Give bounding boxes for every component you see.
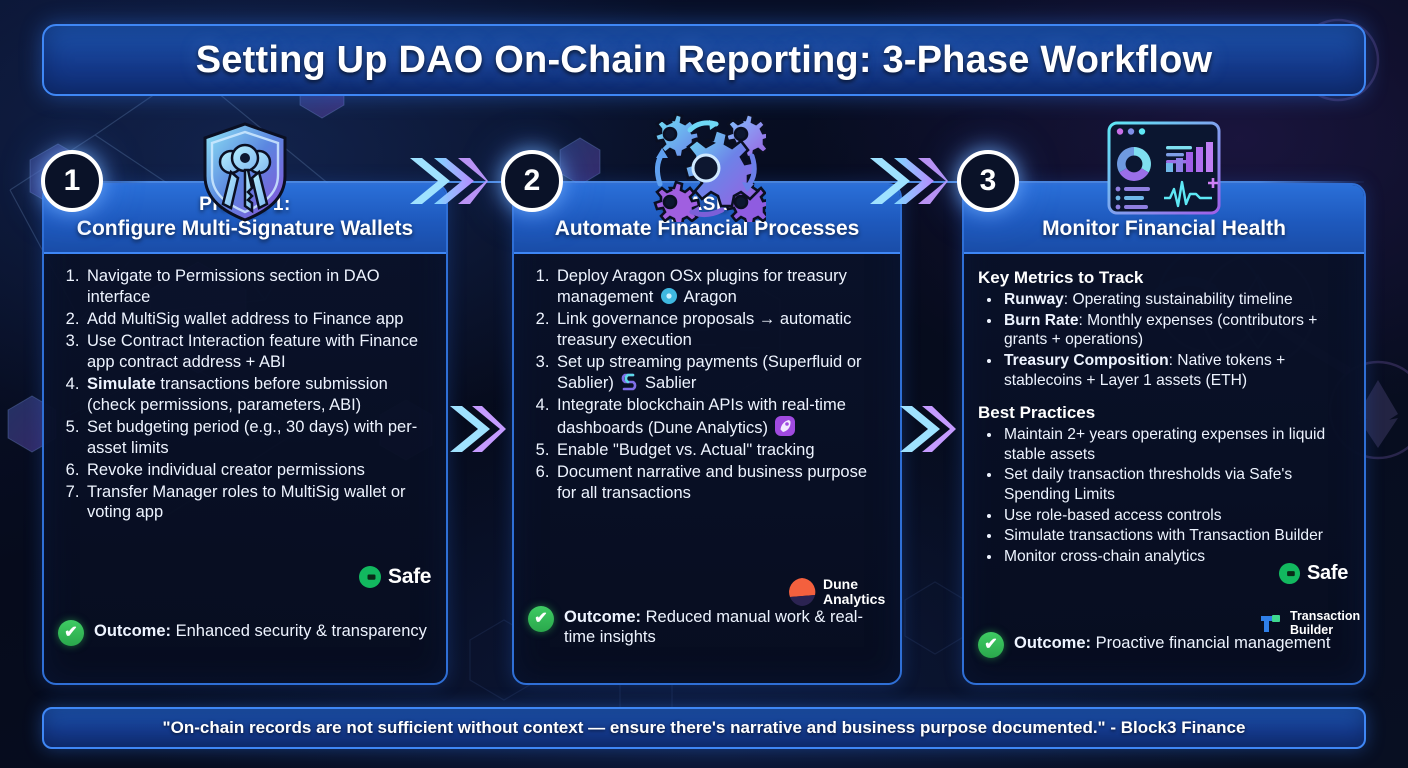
step-text: Transfer Manager roles to MultiSig walle… <box>87 483 406 522</box>
metric-desc: : Operating sustainability timeline <box>1064 291 1293 308</box>
check-circle-icon: ✔ <box>58 620 84 646</box>
outcome-label: Outcome: <box>94 622 171 640</box>
key-metrics-heading: Key Metrics to Track <box>978 268 1350 288</box>
step-text: Link governance proposals → automatic tr… <box>557 310 851 349</box>
dune-logo-icon <box>787 577 817 607</box>
transaction-builder-brand-logo: Transaction Builder <box>1258 610 1360 638</box>
phase-2-outcome: ✔ Outcome: Reduced manual work & real-ti… <box>528 606 888 648</box>
list-item: Transfer Manager roles to MultiSig walle… <box>84 482 432 524</box>
phase-number-3-label: 3 <box>980 164 997 198</box>
transaction-builder-logo-icon <box>1258 611 1284 637</box>
list-item: Use Contract Interaction feature with Fi… <box>84 331 432 373</box>
phase-2-step-list: Deploy Aragon OSx plugins for treasury m… <box>554 266 886 503</box>
list-item: Link governance proposals → automatic tr… <box>554 309 886 351</box>
outcome-value: Enhanced security & transparency <box>176 622 427 640</box>
aragon-logo-icon <box>660 287 678 305</box>
sablier-logo-icon <box>620 373 638 391</box>
list-item: Burn Rate: Monthly expenses (contributor… <box>1002 311 1350 350</box>
main-title-bar: Setting Up DAO On-Chain Reporting: 3-Pha… <box>42 24 1366 96</box>
step-text: Set up streaming payments (Superfluid or… <box>557 353 862 392</box>
step-text: Integrate blockchain APIs with real-time… <box>557 396 846 437</box>
list-item: Enable "Budget vs. Actual" tracking <box>554 440 886 461</box>
list-item: Deploy Aragon OSx plugins for treasury m… <box>554 266 886 308</box>
list-item: Integrate blockchain APIs with real-time… <box>554 395 886 439</box>
phase-2-body: Deploy Aragon OSx plugins for treasury m… <box>514 254 900 676</box>
phase-number-1-label: 1 <box>64 164 81 198</box>
list-item: Document narrative and business purpose … <box>554 462 886 504</box>
list-item: Navigate to Permissions section in DAO i… <box>84 266 432 308</box>
dune-rocket-icon <box>775 416 795 436</box>
step-text: Set budgeting period (e.g., 30 days) wit… <box>87 418 417 457</box>
aragon-label: Aragon <box>684 288 737 306</box>
safe-logo-icon <box>358 565 382 589</box>
metric-term: Burn Rate <box>1004 312 1079 329</box>
phase-1-outcome: ✔ Outcome: Enhanced security & transpare… <box>58 620 434 646</box>
chevron-arrow-icon <box>448 398 506 460</box>
footer-quote-text: "On-chain records are not sufficient wit… <box>163 718 1246 738</box>
check-circle-icon: ✔ <box>978 632 1004 658</box>
step-text: Document narrative and business purpose … <box>557 463 867 502</box>
step-text: Revoke individual creator permissions <box>87 461 365 479</box>
phase-number-3: 3 <box>957 150 1019 212</box>
list-item: Treasury Composition: Native tokens + st… <box>1002 351 1350 390</box>
dune-brand-line1: Dune <box>823 577 885 592</box>
list-item: Set daily transaction thresholds via Saf… <box>1002 465 1350 504</box>
phase-number-2-label: 2 <box>524 164 541 198</box>
list-item: Add MultiSig wallet address to Finance a… <box>84 309 432 330</box>
shield-key-icon <box>193 118 297 222</box>
list-item: Use role-based access controls <box>1002 506 1350 526</box>
gears-automation-icon <box>646 112 766 222</box>
list-item: Revoke individual creator permissions <box>84 460 432 481</box>
list-item: Set up streaming payments (Superfluid or… <box>554 352 886 394</box>
phase-number-2: 2 <box>501 150 563 212</box>
list-item: Simulate transactions with Transaction B… <box>1002 526 1350 546</box>
safe-brand-logo: Safe <box>358 565 431 589</box>
phase-3-title-line2: Monitor Financial Health <box>972 217 1356 241</box>
metric-term: Runway <box>1004 291 1064 308</box>
outcome-label: Outcome: <box>1014 634 1091 652</box>
footer-quote-bar: "On-chain records are not sufficient wit… <box>42 707 1366 749</box>
step-text: Enable "Budget vs. Actual" tracking <box>557 441 815 459</box>
step-text: Navigate to Permissions section in DAO i… <box>87 267 380 306</box>
phase-2-outcome-text: Outcome: Reduced manual work & real-time… <box>564 606 888 648</box>
dashboard-analytics-icon <box>1104 118 1224 218</box>
safe-brand-label: Safe <box>1307 562 1348 585</box>
key-metrics-list: Runway: Operating sustainability timelin… <box>1002 290 1350 390</box>
best-practices-heading: Best Practices <box>978 403 1350 423</box>
list-item: Simulate transactions before submission … <box>84 374 432 416</box>
phase-2-panel: PHASE 2: Automate Financial Processes De… <box>512 183 902 685</box>
safe-brand-label: Safe <box>388 565 431 589</box>
best-practices-list: Maintain 2+ years operating expenses in … <box>1002 425 1350 566</box>
step-text: Add MultiSig wallet address to Finance a… <box>87 310 403 328</box>
txbuilder-brand-line2: Builder <box>1290 624 1360 638</box>
metric-term: Treasury Composition <box>1004 352 1169 369</box>
sablier-label: Sablier <box>645 374 696 392</box>
list-item: Runway: Operating sustainability timelin… <box>1002 290 1350 310</box>
list-item: Maintain 2+ years operating expenses in … <box>1002 425 1350 464</box>
dune-analytics-brand-logo: Dune Analytics <box>787 577 885 607</box>
dune-brand-line2: Analytics <box>823 592 885 607</box>
step-emphasis: Simulate <box>87 375 156 393</box>
txbuilder-brand-line1: Transaction <box>1290 610 1360 624</box>
check-circle-icon: ✔ <box>528 606 554 632</box>
list-item: Set budgeting period (e.g., 30 days) wit… <box>84 417 432 459</box>
phase-number-1: 1 <box>41 150 103 212</box>
phase-1-outcome-text: Outcome: Enhanced security & transparenc… <box>94 620 427 642</box>
safe-brand-logo: Safe <box>1278 562 1348 585</box>
outcome-label: Outcome: <box>564 608 641 626</box>
chevron-arrow-icon <box>408 150 488 212</box>
safe-logo-icon <box>1278 562 1301 585</box>
step-text: Use Contract Interaction feature with Fi… <box>87 332 418 371</box>
chevron-arrow-icon <box>898 398 956 460</box>
phase-1-panel: PHASE 1: Configure Multi-Signature Walle… <box>42 183 448 685</box>
page-title: Setting Up DAO On-Chain Reporting: 3-Pha… <box>196 39 1213 82</box>
phase-1-step-list: Navigate to Permissions section in DAO i… <box>84 266 432 523</box>
phase-1-body: Navigate to Permissions section in DAO i… <box>44 254 446 676</box>
chevron-arrow-icon <box>868 150 948 212</box>
